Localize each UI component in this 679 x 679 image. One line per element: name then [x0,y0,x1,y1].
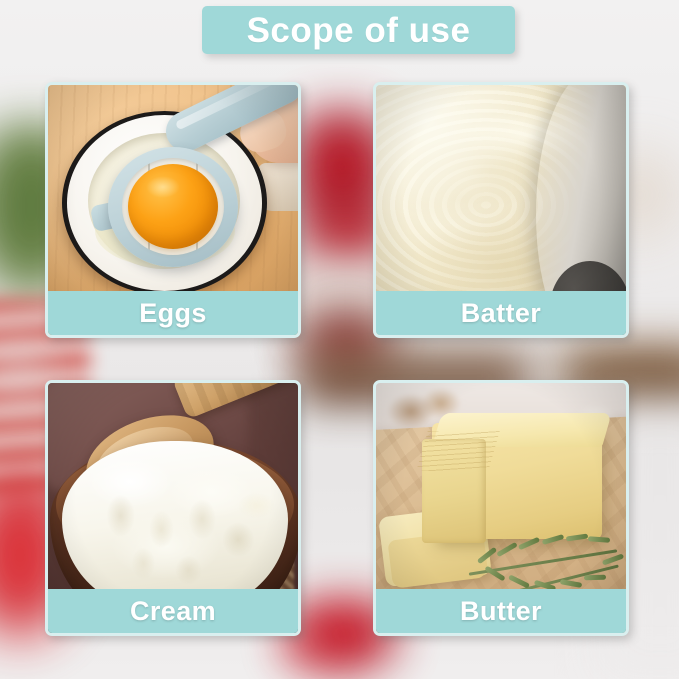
rosemary-leaf [566,533,588,541]
rosemary-leaf [508,574,530,588]
infographic-canvas: Scope of use Eggs [0,0,679,679]
rosemary-leaf [588,536,610,543]
card-eggs[interactable]: Eggs [45,82,301,338]
rosemary-leaf [496,542,518,557]
caption-label: Butter [460,598,542,625]
caption-cream: Cream [48,589,298,633]
caption-butter: Butter [376,589,626,633]
rosemary-leaf [518,537,540,551]
rosemary-leaf [602,553,624,565]
rosemary-sprig [462,517,626,597]
title-banner: Scope of use [202,6,515,54]
rosemary-leaf [477,547,497,564]
card-cream[interactable]: Cream [45,380,301,636]
rosemary-leaf [584,575,606,581]
caption-label: Batter [461,300,541,327]
caption-batter: Batter [376,291,626,335]
rosemary-leaf [542,534,565,545]
page-title: Scope of use [247,13,471,48]
rosemary-leaf [560,579,583,588]
card-batter[interactable]: Batter [373,82,629,338]
butter-knife-marks [416,431,499,471]
caption-label: Eggs [139,300,207,327]
egg-yolk [128,164,218,249]
caption-label: Cream [130,598,216,625]
whipped-cream-peaks [62,441,288,611]
card-butter[interactable]: Butter [373,380,629,636]
caption-eggs: Eggs [48,291,298,335]
